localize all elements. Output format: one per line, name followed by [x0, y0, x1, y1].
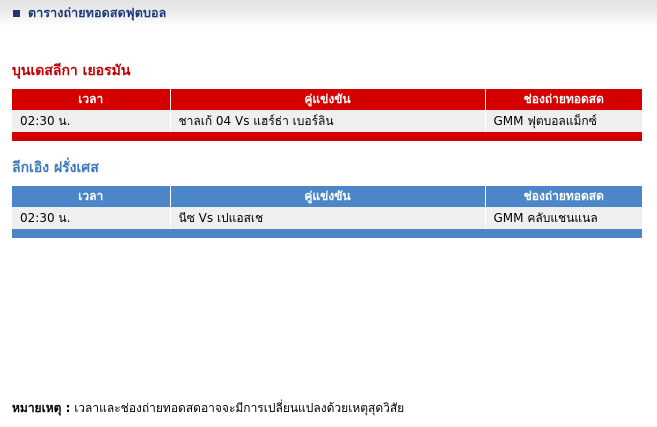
column-header-channel: ช่องถ่ายทอดสด [485, 186, 642, 207]
page-title: ตารางถ่ายทอดสดฟุตบอล [28, 3, 166, 23]
section-title-ligue1: ลีกเอิง ฝรั่งเศส [12, 157, 645, 179]
table-header-row: เวลา คู่แข่งขัน ช่องถ่ายทอดสด [12, 89, 642, 110]
section-title-bundesliga: บุนเดสลีกา เยอรมัน [12, 60, 645, 82]
column-header-match: คู่แข่งขัน [170, 186, 485, 207]
footer-note-label: หมายเหตุ : [12, 401, 70, 415]
column-header-match: คู่แข่งขัน [170, 89, 485, 110]
table-footer-bar-bundesliga [12, 132, 642, 141]
schedule-table-ligue1: เวลา คู่แข่งขัน ช่องถ่ายทอดสด 02:30 น. น… [12, 186, 642, 229]
cell-time: 02:30 น. [12, 110, 170, 132]
footer-note-text: เวลาและช่องถ่ายทอดสดอาจจะมีการเปลี่ยนแปล… [74, 401, 404, 415]
column-header-time: เวลา [12, 186, 170, 207]
cell-match: ชาลเก้ 04 Vs แฮร์ธ่า เบอร์ลิน [170, 110, 485, 132]
cell-match: นีซ Vs เปแอสเช [170, 207, 485, 229]
footer-note: หมายเหตุ : เวลาและช่องถ่ายทอดสดอาจจะมีกา… [12, 399, 404, 418]
column-header-time: เวลา [12, 89, 170, 110]
table-row[interactable]: 02:30 น. ชาลเก้ 04 Vs แฮร์ธ่า เบอร์ลิน G… [12, 110, 642, 132]
main-content: บุนเดสลีกา เยอรมัน เวลา คู่แข่งขัน ช่องถ… [0, 26, 657, 238]
top-spacer [12, 26, 645, 60]
table-footer-bar-ligue1 [12, 229, 642, 238]
table-row[interactable]: 02:30 น. นีซ Vs เปแอสเช GMM คลับแชนแนล [12, 207, 642, 229]
table-header-row: เวลา คู่แข่งขัน ช่องถ่ายทอดสด [12, 186, 642, 207]
cell-time: 02:30 น. [12, 207, 170, 229]
column-header-channel: ช่องถ่ายทอดสด [485, 89, 642, 110]
section-spacer [12, 141, 645, 157]
cell-channel: GMM คลับแชนแนล [485, 207, 642, 229]
square-bullet-icon [13, 10, 20, 17]
schedule-table-bundesliga: เวลา คู่แข่งขัน ช่องถ่ายทอดสด 02:30 น. ช… [12, 89, 642, 132]
section-bundesliga: บุนเดสลีกา เยอรมัน เวลา คู่แข่งขัน ช่องถ… [12, 60, 645, 141]
section-ligue1: ลีกเอิง ฝรั่งเศส เวลา คู่แข่งขัน ช่องถ่า… [12, 157, 645, 238]
page-header-bar: ตารางถ่ายทอดสดฟุตบอล [0, 0, 657, 26]
cell-channel: GMM ฟุตบอลแม็กซ์ [485, 110, 642, 132]
